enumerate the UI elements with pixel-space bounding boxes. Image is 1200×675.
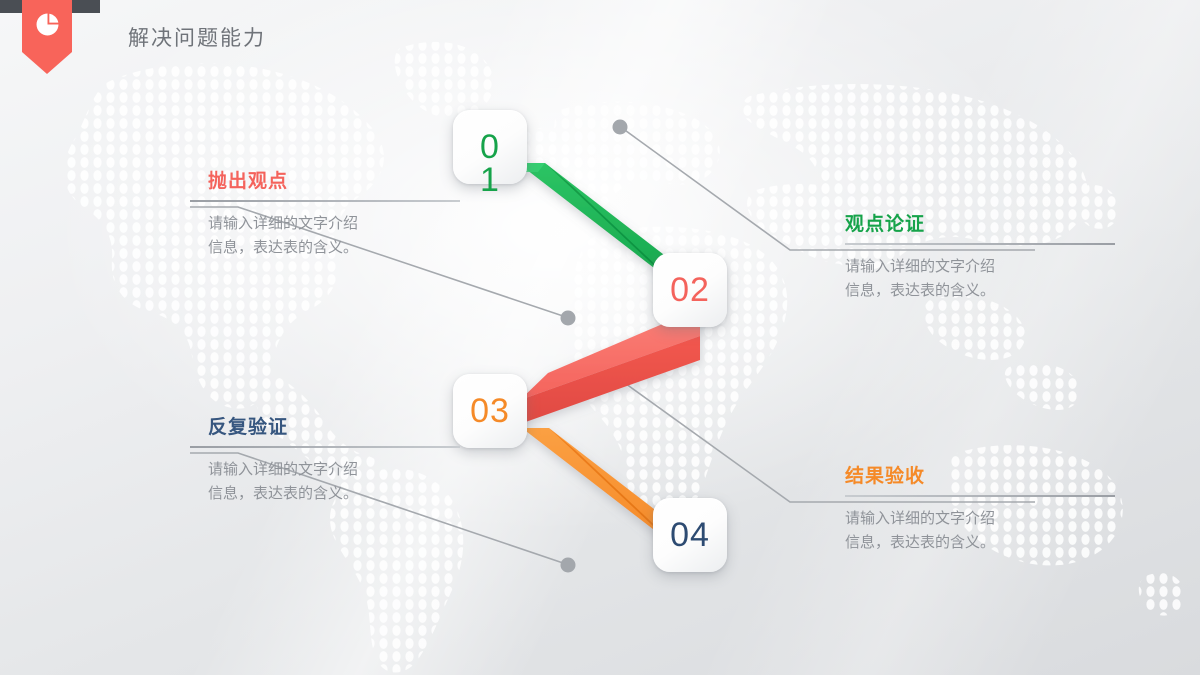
step-heading-01: 抛出观点 — [208, 172, 460, 193]
step-number-box-02[interactable]: 02 — [653, 253, 727, 327]
step-text-block-02: 观点论证 请输入详细的文字介绍 信息，表达表的含义。 — [845, 215, 1115, 303]
step-number-01-digit-1: 1 — [473, 163, 507, 197]
step-body-01: 请输入详细的文字介绍 信息，表达表的含义。 — [208, 212, 460, 261]
step-text-block-01: 抛出观点 请输入详细的文字介绍 信息，表达表的含义。 — [190, 172, 460, 260]
page-title: 解决问题能力 — [128, 22, 266, 52]
step-divider-04 — [845, 495, 1115, 497]
slide-canvas: 解决问题能力 — [0, 0, 1200, 675]
step-number-03: 03 — [470, 394, 510, 428]
step-number-01-digit-0: 0 — [473, 130, 507, 164]
step-body-03: 请输入详细的文字介绍 信息，表达表的含义。 — [208, 458, 460, 507]
step-number-box-04[interactable]: 04 — [653, 498, 727, 572]
step-body-02: 请输入详细的文字介绍 信息，表达表的含义。 — [845, 255, 1115, 304]
step-text-block-03: 反复验证 请输入详细的文字介绍 信息，表达表的含义。 — [190, 418, 460, 506]
step-number-04: 04 — [670, 518, 710, 552]
topbar-segment-right — [72, 0, 100, 13]
topbar-segment-left — [0, 0, 22, 13]
step-number-box-03[interactable]: 03 — [453, 374, 527, 448]
step-number-box-01[interactable]: 0 1 — [453, 110, 527, 184]
step-body-04: 请输入详细的文字介绍 信息，表达表的含义。 — [845, 507, 1115, 556]
step-divider-03 — [190, 446, 460, 448]
step-divider-02 — [845, 243, 1115, 245]
step-number-01: 0 1 — [473, 130, 507, 164]
step-heading-04: 结果验收 — [845, 467, 1115, 488]
step-heading-03: 反复验证 — [208, 418, 460, 439]
world-map-dots-background — [0, 0, 1200, 675]
pie-chart-icon — [34, 11, 61, 38]
step-text-block-04: 结果验收 请输入详细的文字介绍 信息，表达表的含义。 — [845, 467, 1115, 555]
step-number-02: 02 — [670, 273, 710, 307]
step-divider-01 — [190, 200, 460, 202]
step-heading-02: 观点论证 — [845, 215, 1115, 236]
